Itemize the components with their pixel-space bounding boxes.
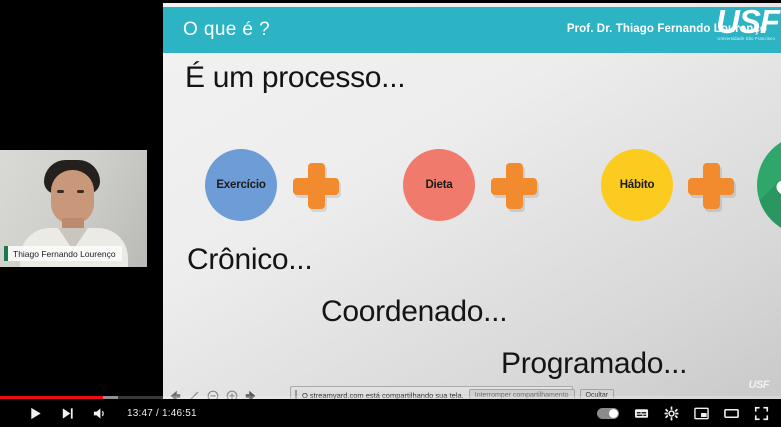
formula-circle-exercicio: Exercício: [205, 149, 277, 221]
webcam-overlay: Thiago Fernando Lourenço: [0, 150, 147, 267]
slide-title: O que é ?: [183, 19, 270, 41]
formula-label-habito: Hábito: [620, 179, 655, 191]
youtube-video-player-page: O que é ? Prof. Dr. Thiago Fernando Lour…: [0, 0, 781, 427]
slide-header-bar: O que é ? Prof. Dr. Thiago Fernando Lour…: [163, 7, 781, 53]
plus-icon-2: [491, 163, 537, 209]
formula-circle-habito: Hábito: [601, 149, 673, 221]
settings-button[interactable]: [664, 406, 679, 421]
player-controls-right: [597, 399, 769, 427]
formula-circle-dieta: Dieta: [403, 149, 475, 221]
video-stage[interactable]: O que é ? Prof. Dr. Thiago Fernando Lour…: [0, 0, 781, 399]
formula-label-dieta: Dieta: [425, 179, 452, 191]
fullscreen-button[interactable]: [754, 406, 769, 421]
usf-footer-logo: USF: [749, 379, 770, 391]
slide-line-cronico: Crônico...: [187, 243, 312, 277]
player-controls-left: 13:47 / 1:46:51: [28, 399, 197, 427]
autoplay-toggle[interactable]: [597, 408, 619, 419]
checkmark-icon: [771, 149, 781, 221]
usf-logo-subtitle: Universidade São Francisco: [717, 36, 775, 41]
volume-button[interactable]: [92, 406, 107, 421]
webcam-person-eye-right: [77, 190, 84, 193]
presentation-slide: O que é ? Prof. Dr. Thiago Fernando Lour…: [163, 3, 781, 399]
theater-mode-button[interactable]: [724, 406, 739, 421]
miniplayer-button[interactable]: [694, 406, 709, 421]
webcam-name-label: Thiago Fernando Lourenço: [8, 246, 122, 261]
formula-row: Exercício Dieta Hábito: [163, 133, 781, 233]
subtitles-button[interactable]: [634, 406, 649, 421]
formula-label-exercicio: Exercício: [216, 179, 265, 191]
slide-line-coordenado: Coordenado...: [321, 295, 507, 329]
plus-icon-3: [688, 163, 734, 209]
plus-icon-1: [293, 163, 339, 209]
next-video-button[interactable]: [60, 406, 75, 421]
time-display: 13:47 / 1:46:51: [127, 408, 197, 419]
webcam-person-face: [51, 170, 94, 224]
slide-line-processo: É um processo...: [185, 61, 405, 95]
play-button[interactable]: [28, 406, 43, 421]
youtube-control-bar: 13:47 / 1:46:51: [0, 399, 781, 427]
slide-line-programado: Programado...: [501, 347, 687, 381]
check-circle-icon: [757, 135, 781, 235]
webcam-person-eye-left: [57, 190, 64, 193]
usf-logo: USF: [716, 5, 779, 38]
